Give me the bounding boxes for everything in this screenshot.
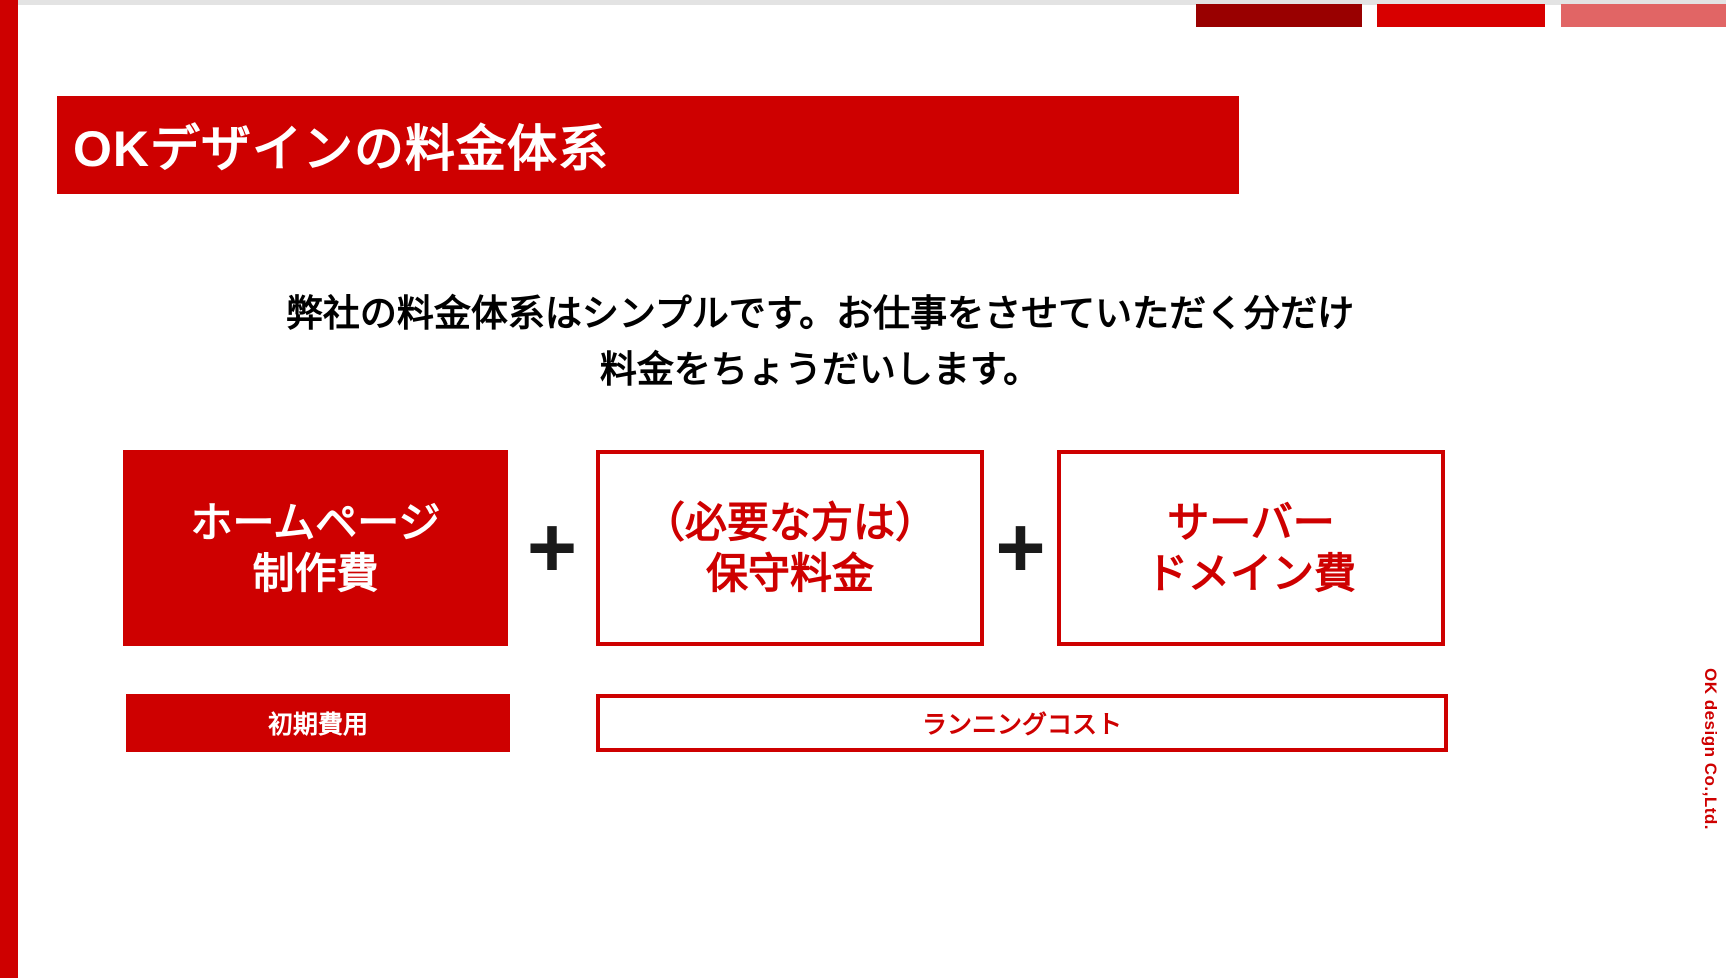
cost-box-1-line-2: 制作費 [252,548,378,599]
cost-category-labels: 初期費用 ランニングコスト [0,694,1726,758]
cost-breakdown-row: ホームページ 制作費 + （必要な方は） 保守料金 + サーバー ドメイン費 [0,450,1726,650]
cost-box-3-line-1: サーバー [1167,497,1335,548]
cost-box-server-domain-fee: サーバー ドメイン費 [1057,450,1445,646]
cost-box-3-line-2: ドメイン費 [1146,548,1356,599]
decorative-bar-bright-red [1377,4,1545,27]
plus-icon-2: + [984,450,1057,646]
label-running-cost: ランニングコスト [596,694,1448,752]
plus-icon-1: + [508,450,596,646]
lead-line-2: 料金をちょうだいします。 [180,342,1460,398]
page-title: OKデザインの料金体系 [57,109,609,181]
title-band: OKデザインの料金体系 [57,96,1239,194]
slide-canvas: OKデザインの料金体系 弊社の料金体系はシンプルです。お仕事をさせていただく分だ… [0,0,1726,978]
label-initial-cost: 初期費用 [126,694,510,752]
cost-box-homepage-production: ホームページ 制作費 [123,450,508,646]
brand-vertical-text: OK design Co.,Ltd. [1700,668,1720,830]
decorative-bar-light-red [1561,4,1726,27]
cost-box-1-line-1: ホームページ [191,497,441,548]
cost-box-2-line-1: （必要な方は） [643,497,937,548]
cost-box-maintenance-fee: （必要な方は） 保守料金 [596,450,984,646]
cost-box-2-line-2: 保守料金 [706,548,874,599]
lead-paragraph: 弊社の料金体系はシンプルです。お仕事をさせていただく分だけ 料金をちょうだいしま… [180,286,1460,397]
lead-line-1: 弊社の料金体系はシンプルです。お仕事をさせていただく分だけ [180,286,1460,342]
decorative-bar-dark-red [1196,4,1362,27]
